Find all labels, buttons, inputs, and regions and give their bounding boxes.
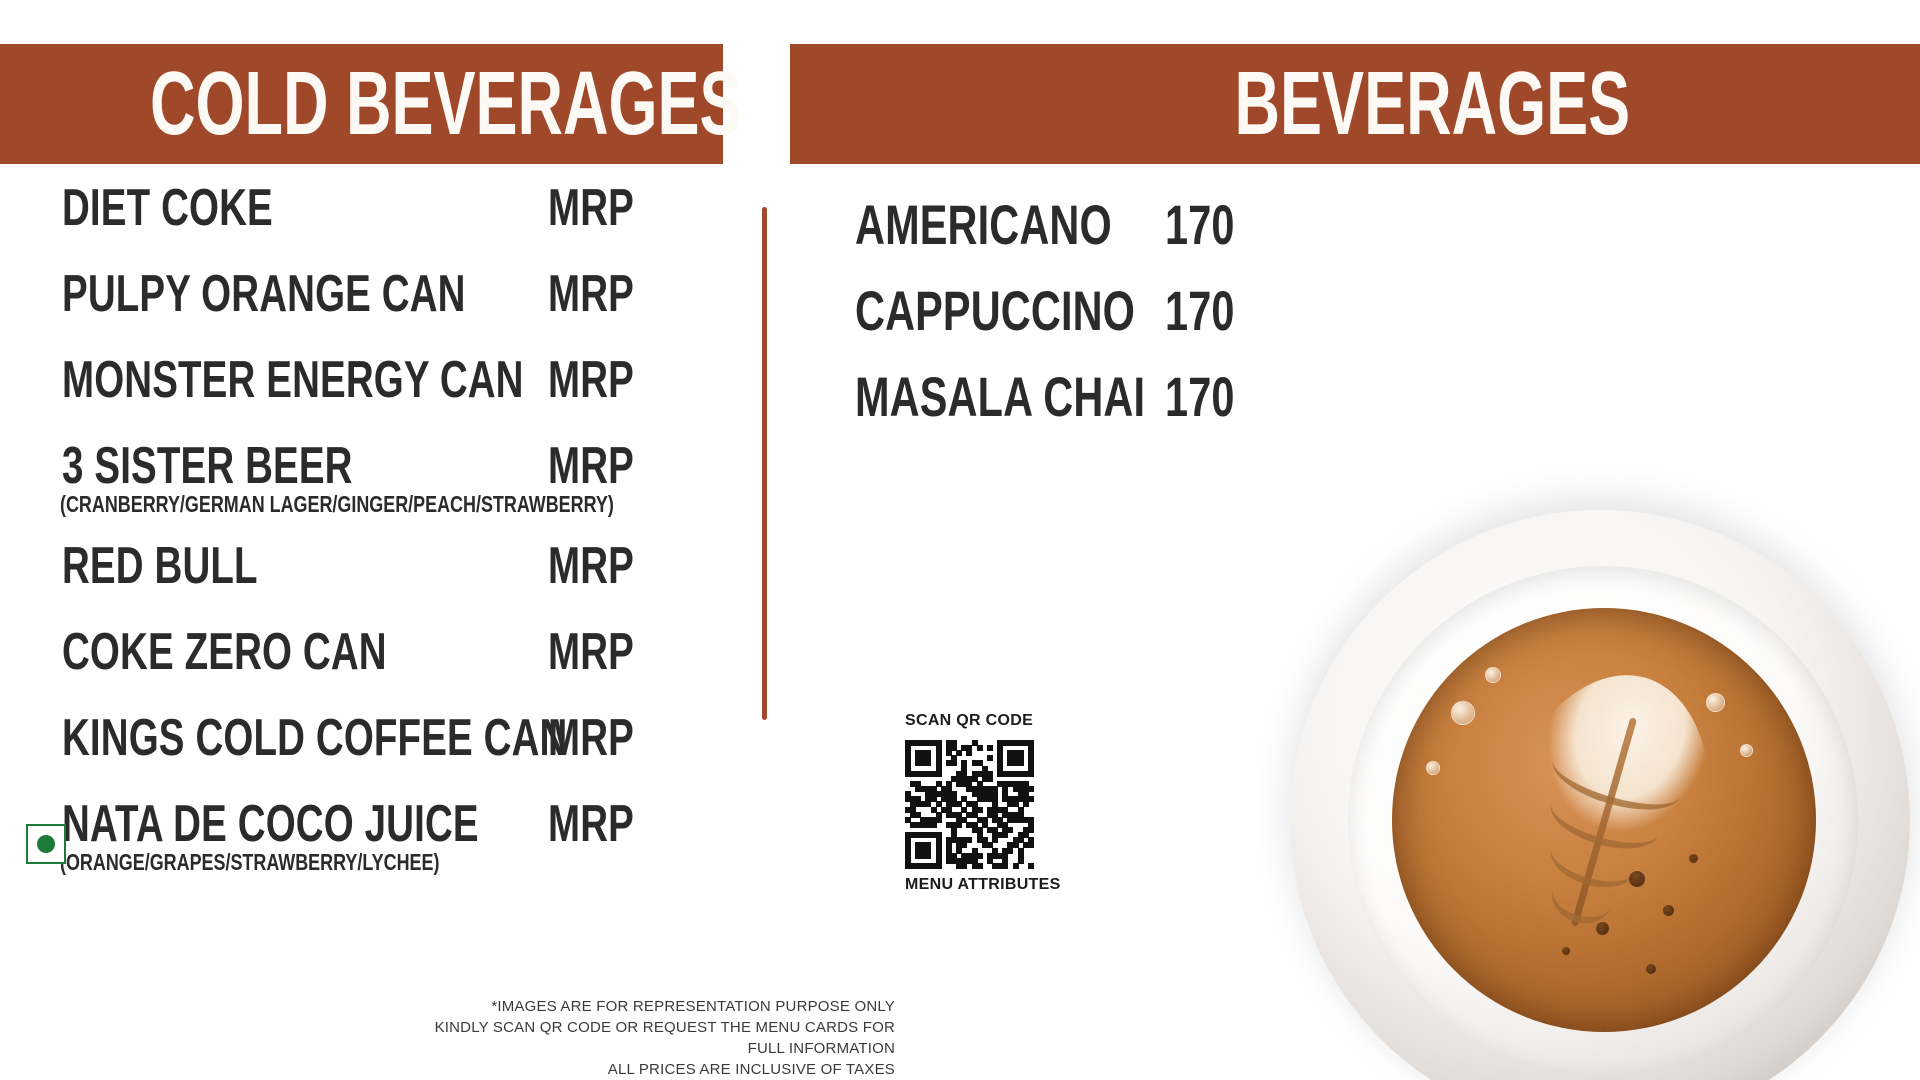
item-price: 170 [1165, 367, 1235, 427]
foam-bubble [1706, 693, 1725, 712]
latte-art-vein [1544, 778, 1666, 860]
disclaimer-line-2: KINDLY SCAN QR CODE OR REQUEST THE MENU … [430, 1017, 895, 1059]
item-name: NATA DE COCO JUICE [62, 796, 479, 852]
item-price: 170 [1165, 195, 1235, 255]
menu-row: PULPY ORANGE CAN MRP [0, 266, 723, 352]
menu-row: AMERICANO 170 [855, 195, 1615, 281]
latte-art-vein [1546, 735, 1687, 822]
latte-art-leaf [1460, 648, 1748, 995]
menu-row: 3 SISTER BEER (CRANBERRY/GERMAN LAGER/GI… [0, 438, 723, 538]
menu-row: DIET COKE MRP [0, 180, 723, 266]
item-name: CAPPUCCINO [855, 281, 1135, 341]
menu-row: COKE ZERO CAN MRP [0, 624, 723, 710]
cup-shape [1348, 566, 1858, 1076]
foam-bubble [1426, 761, 1440, 775]
beverages-header-banner: BEVERAGES [790, 44, 1920, 164]
item-variants: (ORANGE/GRAPES/STRAWBERRY/LYCHEE) [60, 850, 439, 874]
item-name: KINGS COLD COFFEE CAN [62, 710, 568, 766]
item-price: MRP [548, 796, 634, 852]
item-name: DIET COKE [62, 180, 273, 236]
item-name: 3 SISTER BEER [62, 438, 353, 494]
latte-art-rib [1571, 717, 1637, 927]
foam-bubble [1485, 667, 1501, 683]
cocoa-speck [1646, 964, 1656, 974]
cocoa-speck [1689, 854, 1698, 863]
cold-beverages-title: COLD BEVERAGES [150, 59, 742, 149]
cold-beverages-list: DIET COKE MRP PULPY ORANGE CAN MRP MONST… [0, 180, 723, 896]
qr-code-block[interactable]: SCAN QR CODE MENU ATTRIBUTES [905, 712, 1039, 894]
menu-row: NATA DE COCO JUICE (ORANGE/GRAPES/STRAWB… [0, 796, 723, 896]
menu-row: RED BULL MRP [0, 538, 723, 624]
item-variants: (CRANBERRY/GERMAN LAGER/GINGER/PEACH/STR… [60, 492, 614, 516]
latte-art-vein [1544, 821, 1643, 896]
crema-surface [1392, 608, 1816, 1032]
menu-row: KINGS COLD COFFEE CAN MRP [0, 710, 723, 796]
disclaimer-line-1: *IMAGES ARE FOR REPRESENTATION PURPOSE O… [430, 996, 895, 1017]
item-price: MRP [548, 438, 634, 494]
item-price: MRP [548, 180, 634, 236]
item-name: PULPY ORANGE CAN [62, 266, 466, 322]
item-name: COKE ZERO CAN [62, 624, 387, 680]
disclaimer-text: *IMAGES ARE FOR REPRESENTATION PURPOSE O… [430, 996, 895, 1080]
menu-row: CAPPUCCINO 170 [855, 281, 1615, 367]
item-price: MRP [548, 538, 634, 594]
latte-art-vein [1546, 863, 1620, 931]
item-name: MASALA CHAI [855, 367, 1145, 427]
menu-row: MASALA CHAI 170 [855, 367, 1615, 453]
cold-beverages-header-banner: COLD BEVERAGES [0, 44, 723, 164]
item-name: MONSTER ENERGY CAN [62, 352, 524, 408]
qr-code-image[interactable] [905, 740, 1033, 868]
menu-row: MONSTER ENERGY CAN MRP [0, 352, 723, 438]
saucer-shape [1290, 510, 1910, 1080]
item-price: MRP [548, 710, 634, 766]
qr-top-label: SCAN QR CODE [905, 712, 1039, 730]
item-price: MRP [548, 352, 634, 408]
cocoa-speck [1562, 947, 1570, 955]
cocoa-speck [1629, 871, 1645, 887]
beverages-title: BEVERAGES [1234, 59, 1630, 149]
vegetarian-dot [37, 835, 55, 853]
coffee-cup-photo [1260, 380, 1920, 1080]
qr-bottom-label: MENU ATTRIBUTES [905, 876, 1039, 894]
beverages-list: AMERICANO 170 CAPPUCCINO 170 MASALA CHAI… [855, 195, 1615, 453]
item-price: MRP [548, 266, 634, 322]
cocoa-speck [1663, 905, 1674, 916]
cocoa-speck [1596, 922, 1609, 935]
item-price: 170 [1165, 281, 1235, 341]
vegetarian-mark-icon [26, 824, 66, 864]
disclaimer-line-3: ALL PRICES ARE INCLUSIVE OF TAXES [430, 1059, 895, 1080]
vertical-divider [762, 207, 767, 720]
foam-bubble [1740, 744, 1753, 757]
item-name: RED BULL [62, 538, 258, 594]
foam-bubble [1451, 701, 1475, 725]
item-name: AMERICANO [855, 195, 1112, 255]
item-price: MRP [548, 624, 634, 680]
